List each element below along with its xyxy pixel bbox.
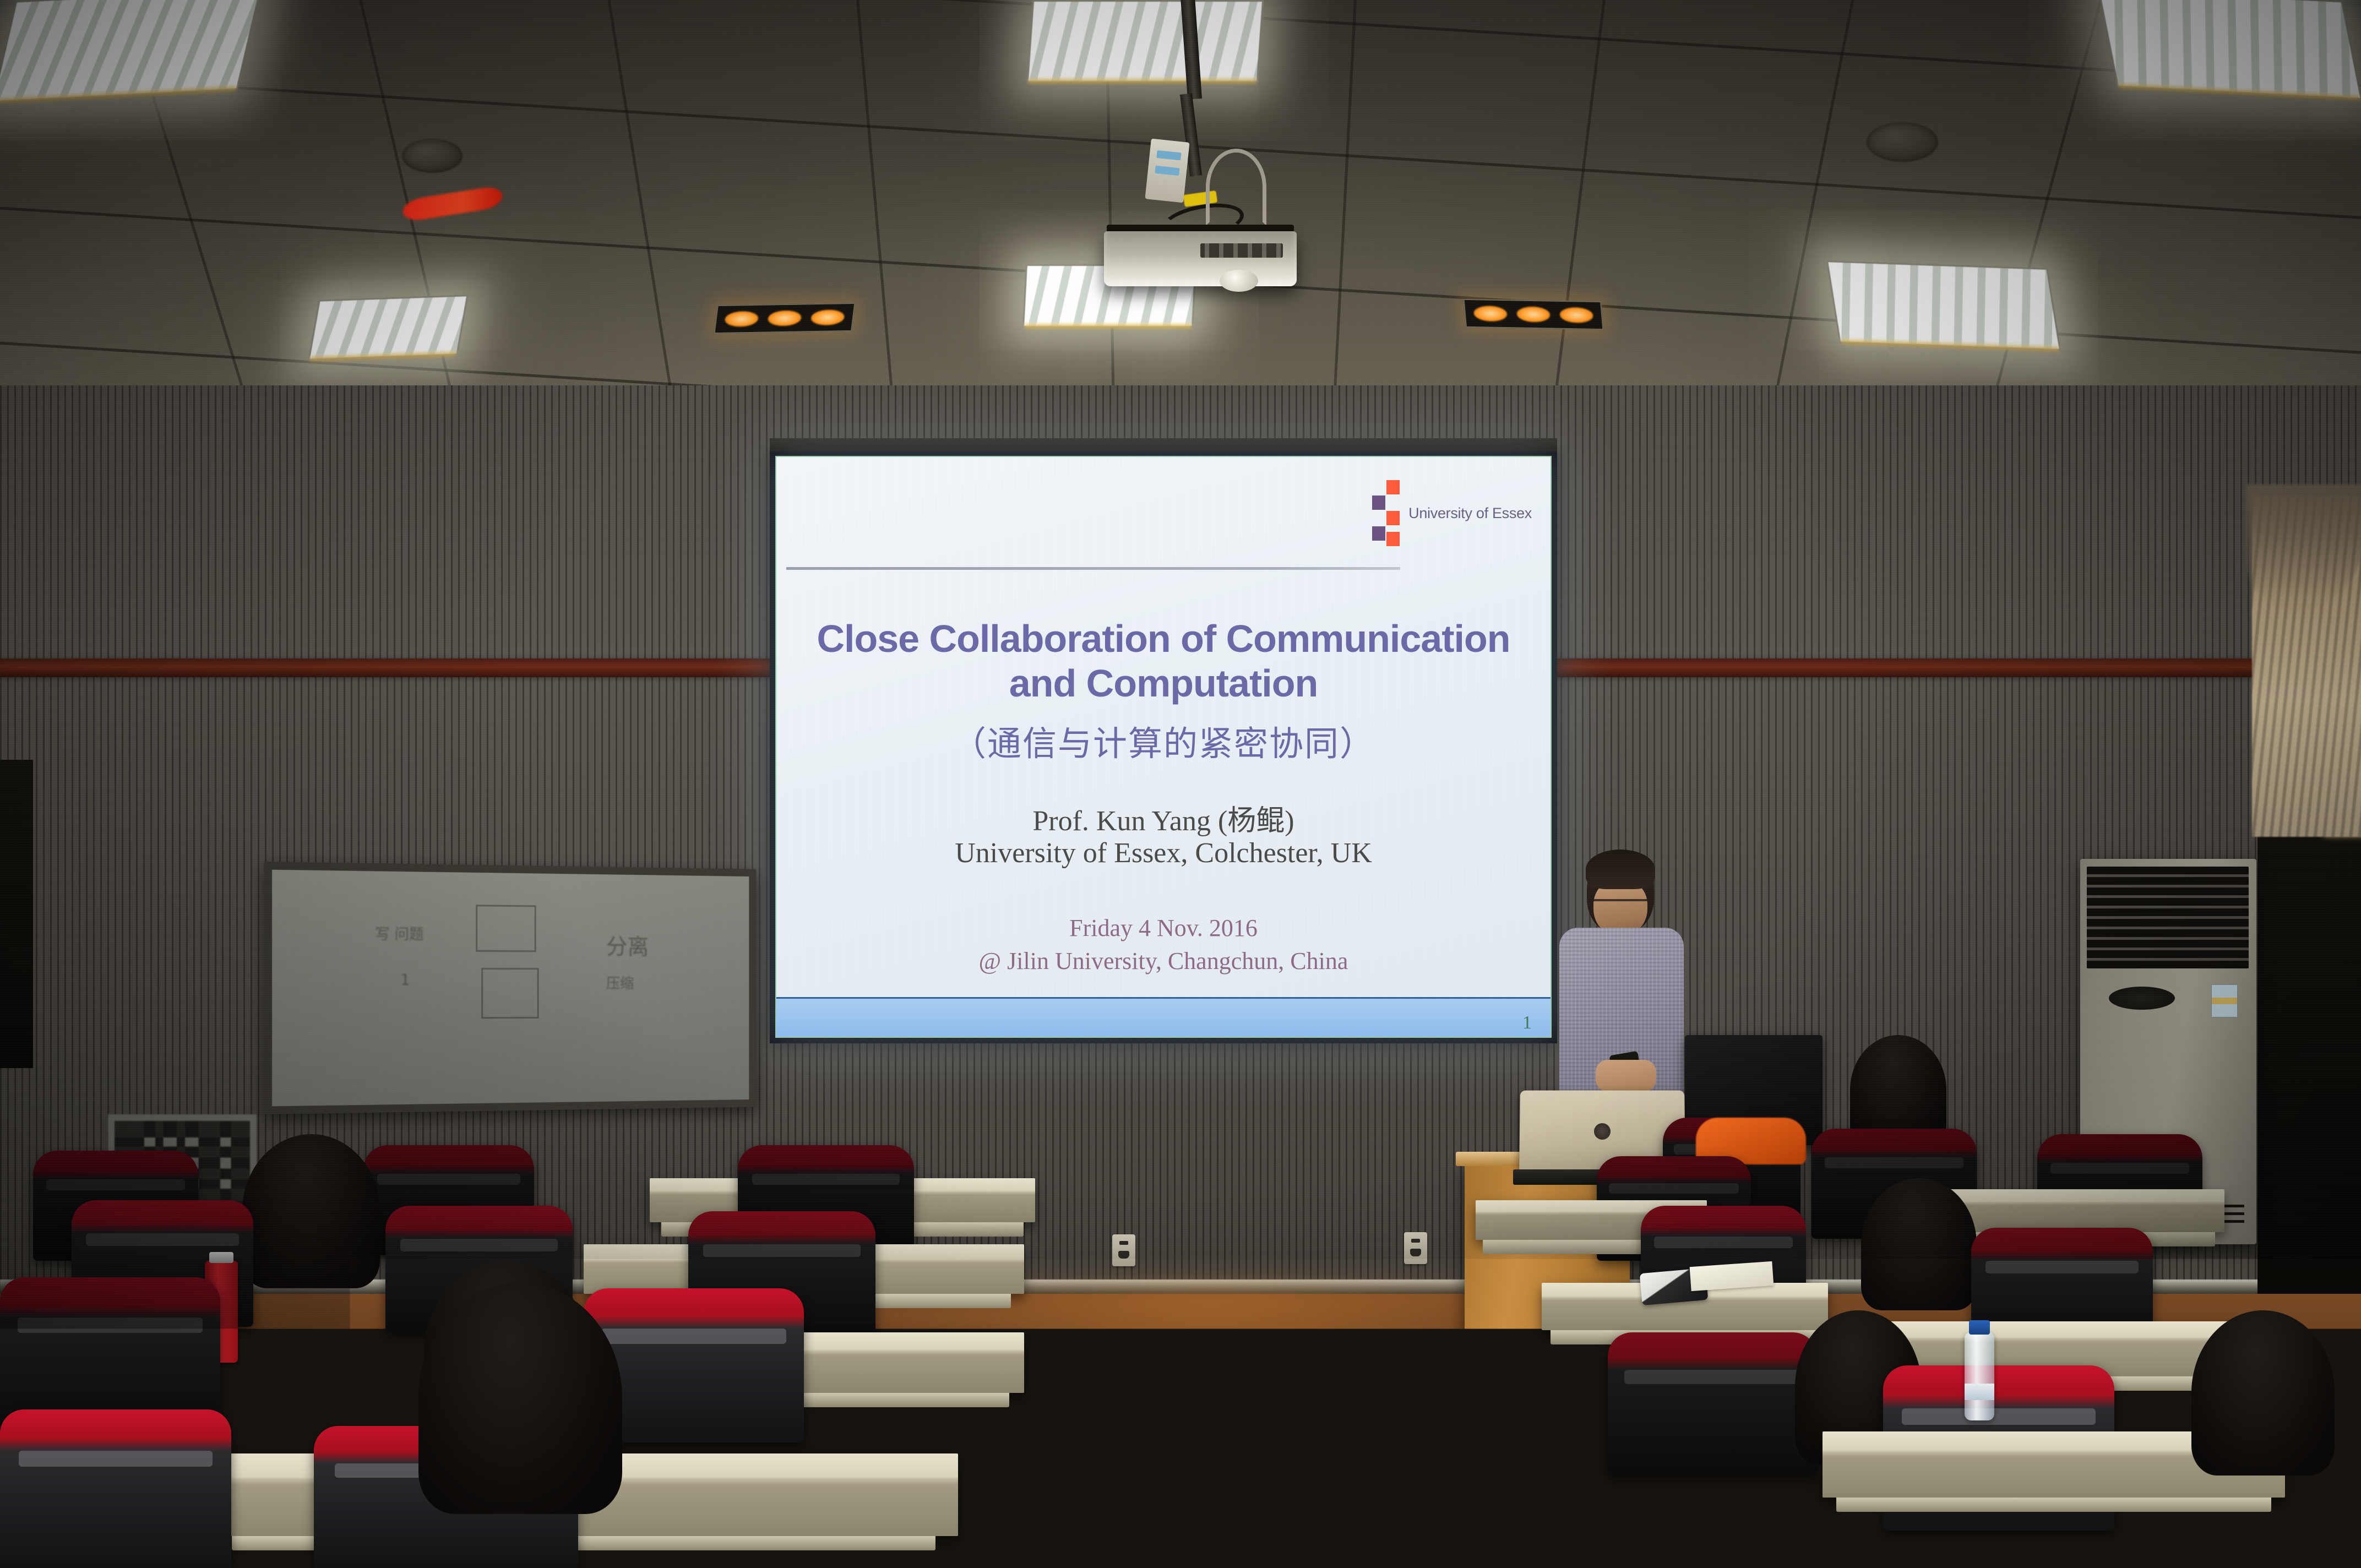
fluorescent-panel-center bbox=[1027, 0, 1264, 83]
wall-outlet-right[interactable] bbox=[1404, 1232, 1427, 1264]
chair-left-front-a[interactable] bbox=[0, 1409, 231, 1568]
slide-title-chinese: （通信与计算的紧密协同） bbox=[776, 716, 1551, 765]
audience-person-left-front bbox=[418, 1283, 622, 1514]
projection-screen: University of Essex Close Collaboration … bbox=[770, 451, 1557, 1043]
whiteboard-sketch-box-bottom bbox=[481, 968, 538, 1019]
smoke-detector-left bbox=[402, 139, 463, 173]
projector-lens bbox=[1220, 270, 1258, 292]
slide-venue: @ Jilin University, Changchun, China bbox=[776, 947, 1551, 975]
presenter-glasses-icon bbox=[1593, 899, 1647, 908]
lecture-hall-photo: University of Essex Close Collaboration … bbox=[0, 0, 2361, 1568]
chair-left-row3-a[interactable] bbox=[0, 1277, 220, 1431]
audience-person-far-right bbox=[2191, 1310, 2335, 1476]
whiteboard-scribble-left: 写 问题 bbox=[375, 923, 423, 944]
ac-energy-label bbox=[2211, 984, 2238, 1017]
warm-spot-strip-left bbox=[714, 303, 856, 334]
whiteboard-scribble-right-2: 压缩 bbox=[606, 972, 634, 993]
presentation-slide: University of Essex Close Collaboration … bbox=[775, 456, 1552, 1038]
chair-right-front-a[interactable] bbox=[1608, 1332, 1817, 1476]
whiteboard-sketch-box-top bbox=[476, 905, 536, 952]
left-dark-wall-panel bbox=[0, 760, 33, 1068]
slide-date: Friday 4 Nov. 2016 bbox=[776, 914, 1551, 942]
fluorescent-panel-right bbox=[1826, 260, 2061, 351]
warm-spot-strip-right bbox=[1464, 299, 1604, 330]
slide-title: Close Collaboration of Communication and… bbox=[776, 617, 1551, 705]
right-dark-wall-panel bbox=[2257, 771, 2361, 1299]
projector-port-panel bbox=[1200, 243, 1283, 258]
slide-author: Prof. Kun Yang (杨鲲) bbox=[776, 797, 1551, 839]
fluorescent-panel-top-left bbox=[0, 0, 262, 102]
slide-footer-band: 1 bbox=[776, 997, 1551, 1037]
whiteboard: 写 问题 1 分离 压缩 bbox=[264, 862, 756, 1114]
ac-brand-logo bbox=[2109, 987, 2175, 1010]
audience-person-left-back bbox=[242, 1134, 380, 1288]
ac-air-grille bbox=[2087, 867, 2249, 968]
projector-bracket bbox=[1145, 139, 1189, 203]
fluorescent-panel-top-right bbox=[2098, 0, 2361, 100]
wall-outlet-left[interactable] bbox=[1112, 1234, 1135, 1266]
fluorescent-panel-left bbox=[308, 295, 468, 360]
slide-title-line-2: and Computation bbox=[776, 661, 1551, 706]
projector-power-cable bbox=[1206, 149, 1266, 226]
presenter-hands bbox=[1596, 1060, 1656, 1092]
university-logo: University of Essex bbox=[1372, 480, 1532, 546]
desk-center-row bbox=[914, 1283, 1145, 1336]
whiteboard-scribble-num: 1 bbox=[401, 972, 410, 989]
slide-title-line-1: Close Collaboration of Communication bbox=[776, 617, 1551, 661]
presenter-hair bbox=[1586, 850, 1655, 889]
smoke-detector-right bbox=[1867, 122, 1938, 162]
bottle-label bbox=[1965, 1384, 1994, 1400]
audience-person-right-mid bbox=[1861, 1178, 1977, 1310]
water-bottle[interactable] bbox=[1965, 1332, 1994, 1420]
dell-logo-icon bbox=[1594, 1123, 1611, 1140]
slide-affiliation: University of Essex, Colchester, UK bbox=[776, 837, 1551, 869]
essex-logo-marks-icon bbox=[1372, 480, 1401, 546]
red-ceiling-marker-icon bbox=[403, 193, 502, 215]
university-logo-text: University of Essex bbox=[1408, 505, 1532, 522]
whiteboard-scribble-right: 分离 bbox=[606, 929, 649, 961]
slide-page-number: 1 bbox=[1522, 1012, 1532, 1033]
bottle-cap bbox=[1969, 1320, 1990, 1335]
ceiling bbox=[0, 0, 2361, 407]
ceiling-projector bbox=[1104, 231, 1297, 286]
slide-divider-rule bbox=[786, 567, 1400, 570]
